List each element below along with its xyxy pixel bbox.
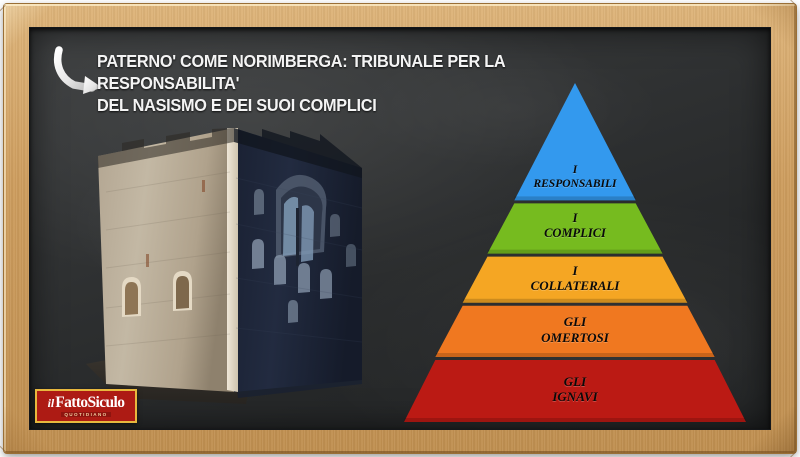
pyramid-band[interactable] xyxy=(487,203,662,253)
pyramid-svg xyxy=(398,78,758,430)
logo-wordmark: il FattoSiculo xyxy=(48,395,125,411)
pyramid-band-shade xyxy=(435,353,714,357)
pyramid-band-shade xyxy=(487,250,662,254)
pyramid-band[interactable] xyxy=(463,257,688,303)
pyramid-band[interactable] xyxy=(435,306,714,357)
logo-subtitle: QUOTIDIANO xyxy=(61,412,110,417)
pyramid-band[interactable] xyxy=(514,83,635,200)
pyramid-band-shade xyxy=(514,196,635,200)
frame-miter-seam-tl xyxy=(0,5,6,47)
pyramid-band[interactable] xyxy=(404,360,746,422)
publisher-logo[interactable]: il FattoSiculo QUOTIDIANO xyxy=(35,389,137,423)
pyramid-band-shade xyxy=(404,418,746,422)
logo-prefix: il xyxy=(48,397,55,409)
frame-miter-seam-bl xyxy=(0,410,6,452)
poster-canvas: PATERNO' COME NORIMBERGA: TRIBUNALE PER … xyxy=(0,0,800,457)
frame-miter-seam-br xyxy=(754,452,796,457)
castle-photo xyxy=(62,112,392,412)
logo-title: FattoSiculo xyxy=(55,395,124,411)
frame-miter-seam-tr xyxy=(754,0,796,5)
pyramid-band-shade xyxy=(463,299,688,303)
responsibility-pyramid: I RESPONSABILII COMPLICII COLLATERALIGLI… xyxy=(398,78,758,430)
